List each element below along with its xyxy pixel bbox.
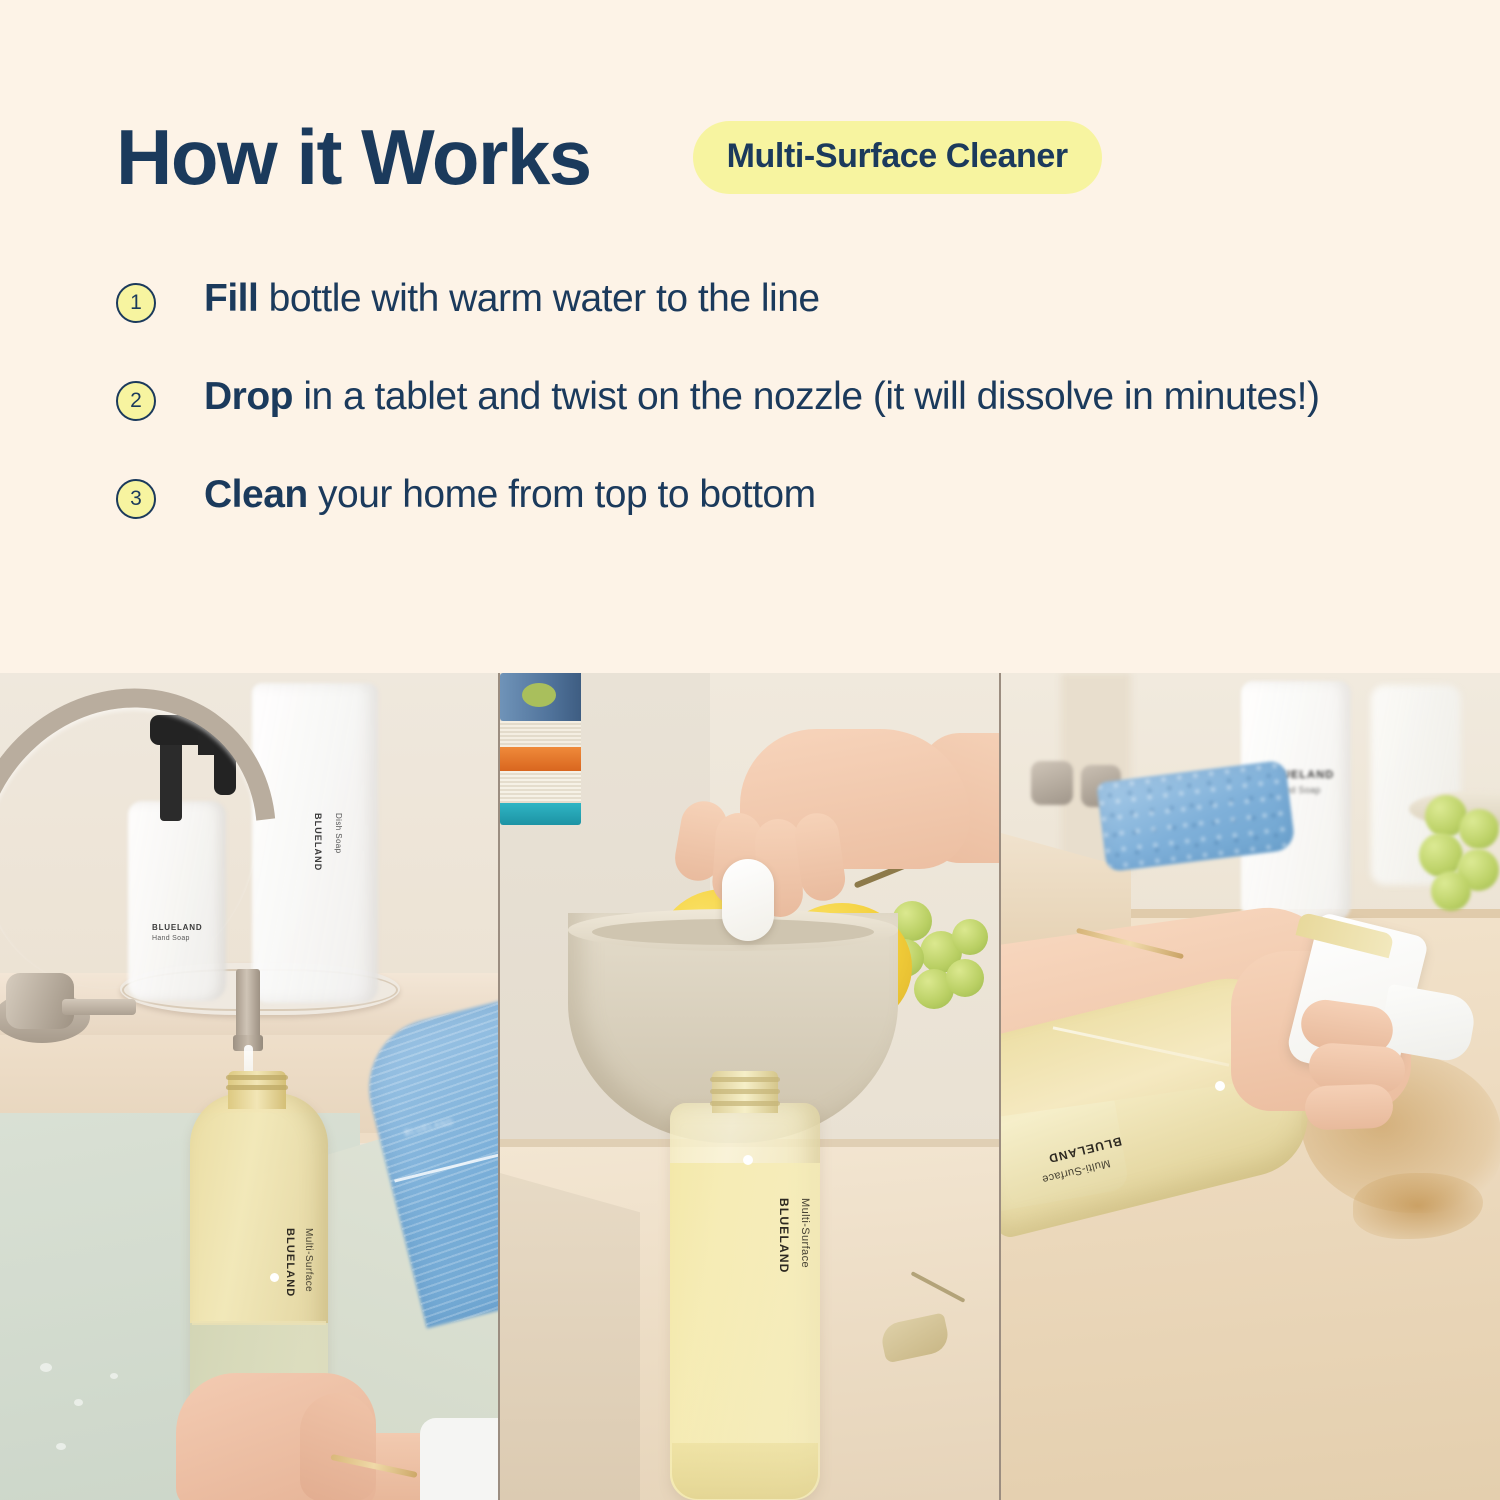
grape [1459,809,1499,849]
water-droplet [74,1399,83,1406]
grape [952,919,988,955]
photo-panel-clean: BLUELAND Hand Soap BLUELAND Multi-Surfac… [1001,673,1500,1500]
bottle-thread-ring [226,1075,288,1080]
how-it-works-infographic: How it Works Multi-Surface Cleaner 1 Fil… [0,0,1500,1500]
dish-soap-brand-label: BLUELAND [313,813,323,871]
sleeve [420,1418,498,1500]
bottle-brand-label: BLUELAND [284,1228,296,1297]
steps-list: 1 Fill bottle with warm water to the lin… [116,272,1416,521]
page-title: How it Works [116,118,591,196]
step-item: 1 Fill bottle with warm water to the lin… [116,272,1416,326]
step-text: Clean your home from top to bottom [204,468,816,522]
photo-panel-fill: BLUELAND Dish Soap BLUELAND Hand Soap BL… [0,673,498,1500]
step-rest-text: your home from top to bottom [308,473,816,516]
bottle-brand-label: BLUELAND [777,1198,791,1274]
bottle-base [672,1443,818,1499]
step-number-badge: 1 [116,283,156,323]
step-lead-word: Fill [204,277,258,320]
water-droplet [40,1363,52,1372]
step-text: Fill bottle with warm water to the line [204,272,820,326]
photo-strip: BLUELAND Dish Soap BLUELAND Hand Soap BL… [0,673,1500,1500]
faucet-neck [236,969,260,1045]
faucet-knob [1031,761,1073,805]
bottle-fill-dot [1215,1081,1225,1091]
cleaning-tablet [722,859,774,941]
grape [1431,871,1471,911]
bottle-variant-label: Multi-Surface [303,1228,314,1292]
faucet-handle-lever [62,999,136,1015]
book-spine-orange [500,747,581,771]
book-spine-teal [500,803,581,825]
bottle-fill-line [192,1321,326,1325]
step-lead-word: Clean [204,473,308,516]
bottle-variant-label: Multi-Surface [799,1198,811,1268]
book-pages [500,771,581,803]
thumb [300,1393,376,1500]
book-pages [500,721,581,747]
book-cover-art [522,683,556,707]
title-row: How it Works Multi-Surface Cleaner [116,118,1102,196]
step-number-badge: 2 [116,381,156,421]
book-cover [500,673,581,721]
bottle-fill-dot [743,1155,753,1165]
dish-soap-variant-label: Dish Soap [334,813,343,854]
bottle-thread-ring [710,1101,780,1106]
step-text: Drop in a tablet and twist on the nozzle… [204,370,1320,424]
product-badge: Multi-Surface Cleaner [693,121,1102,194]
water-droplet [56,1443,66,1450]
water-droplet [110,1373,118,1379]
photo-panel-drop: BLUELAND Multi-Surface [500,673,999,1500]
bottle-thread-ring [226,1085,288,1090]
step-item: 2 Drop in a tablet and twist on the nozz… [116,370,1416,424]
book-stack [500,673,581,833]
finger [1304,1083,1393,1130]
counter-side [500,1173,640,1500]
header-section: How it Works Multi-Surface Cleaner 1 Fil… [0,0,1500,673]
step-number-badge: 3 [116,479,156,519]
bottle-thread-ring [710,1089,780,1094]
grape [946,959,984,997]
bottle-thread-ring [710,1077,780,1082]
step-item: 3 Clean your home from top to bottom [116,468,1416,522]
step-lead-word: Drop [204,375,293,418]
step-rest-text: in a tablet and twist on the nozzle (it … [293,375,1320,418]
bottle-fill-dot [270,1273,279,1282]
step-rest-text: bottle with warm water to the line [258,277,819,320]
